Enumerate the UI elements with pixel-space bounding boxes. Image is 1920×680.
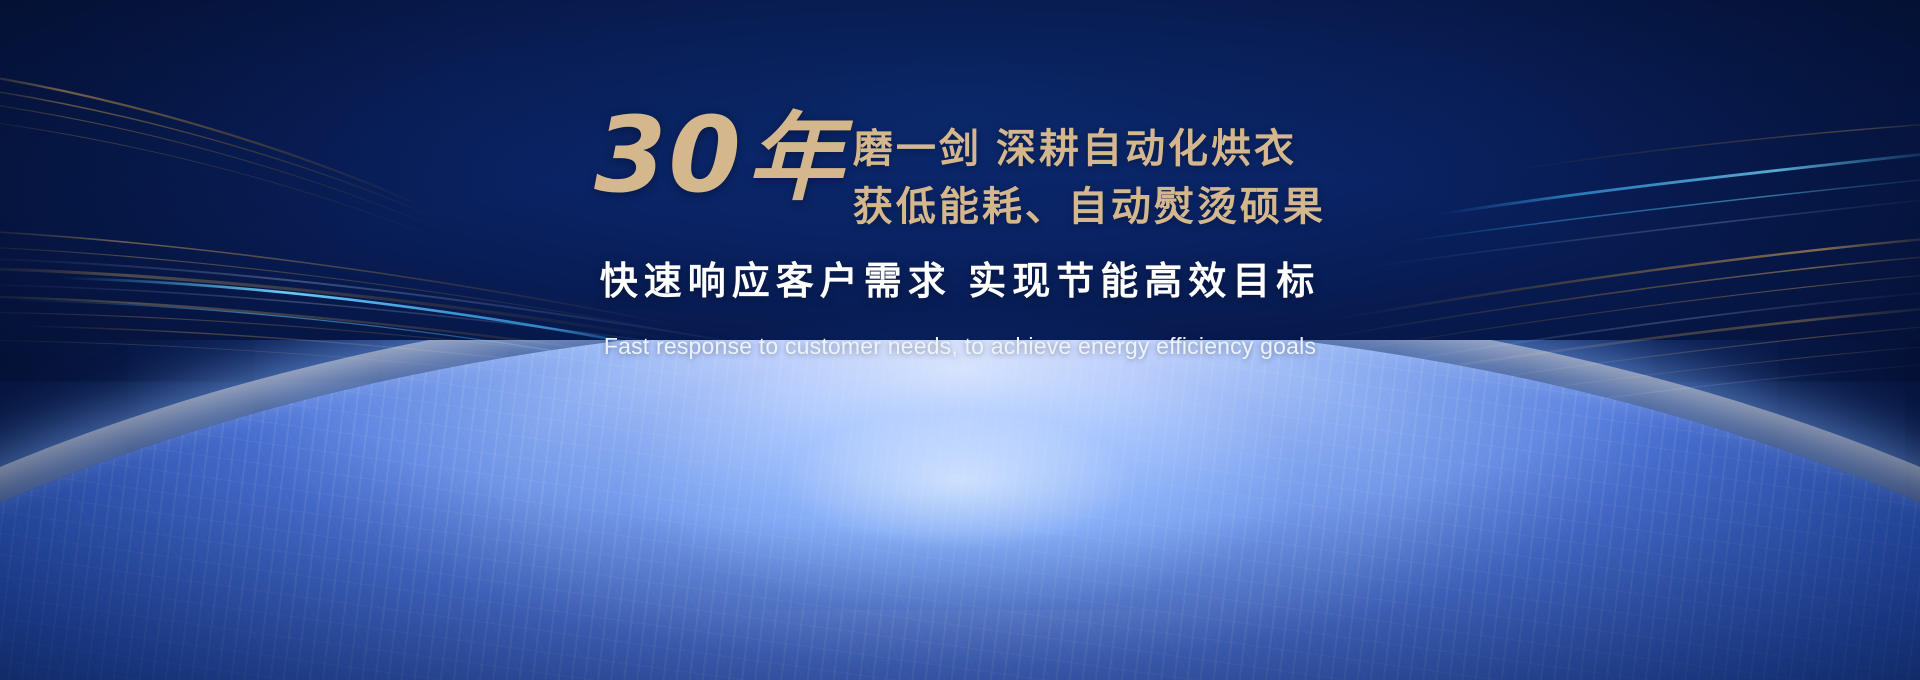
anniversary-unit: 年 bbox=[747, 115, 843, 203]
gold-headline-line-2: 获低能耗、自动熨烫硕果 bbox=[853, 178, 1326, 236]
gold-headline-lines: 磨一剑 深耕自动化烘衣 获低能耗、自动熨烫硕果 bbox=[853, 112, 1326, 236]
anniversary-years: 30 年 bbox=[594, 108, 843, 204]
subtitle-chinese: 快速响应客户需求 实现节能高效目标 bbox=[600, 250, 1321, 305]
headline-row: 30 年 磨一剑 深耕自动化烘衣 获低能耗、自动熨烫硕果 bbox=[0, 112, 1920, 236]
promo-banner: 30 年 磨一剑 深耕自动化烘衣 获低能耗、自动熨烫硕果 快速响应客户需求 实现… bbox=[0, 0, 1920, 680]
gold-headline-line-1: 磨一剑 深耕自动化烘衣 bbox=[853, 120, 1326, 178]
banner-content: 30 年 磨一剑 深耕自动化烘衣 获低能耗、自动熨烫硕果 快速响应客户需求 实现… bbox=[0, 0, 1920, 680]
anniversary-number: 30 bbox=[594, 108, 743, 204]
subtitle-english: Fast response to customer needs, to achi… bbox=[604, 333, 1316, 360]
